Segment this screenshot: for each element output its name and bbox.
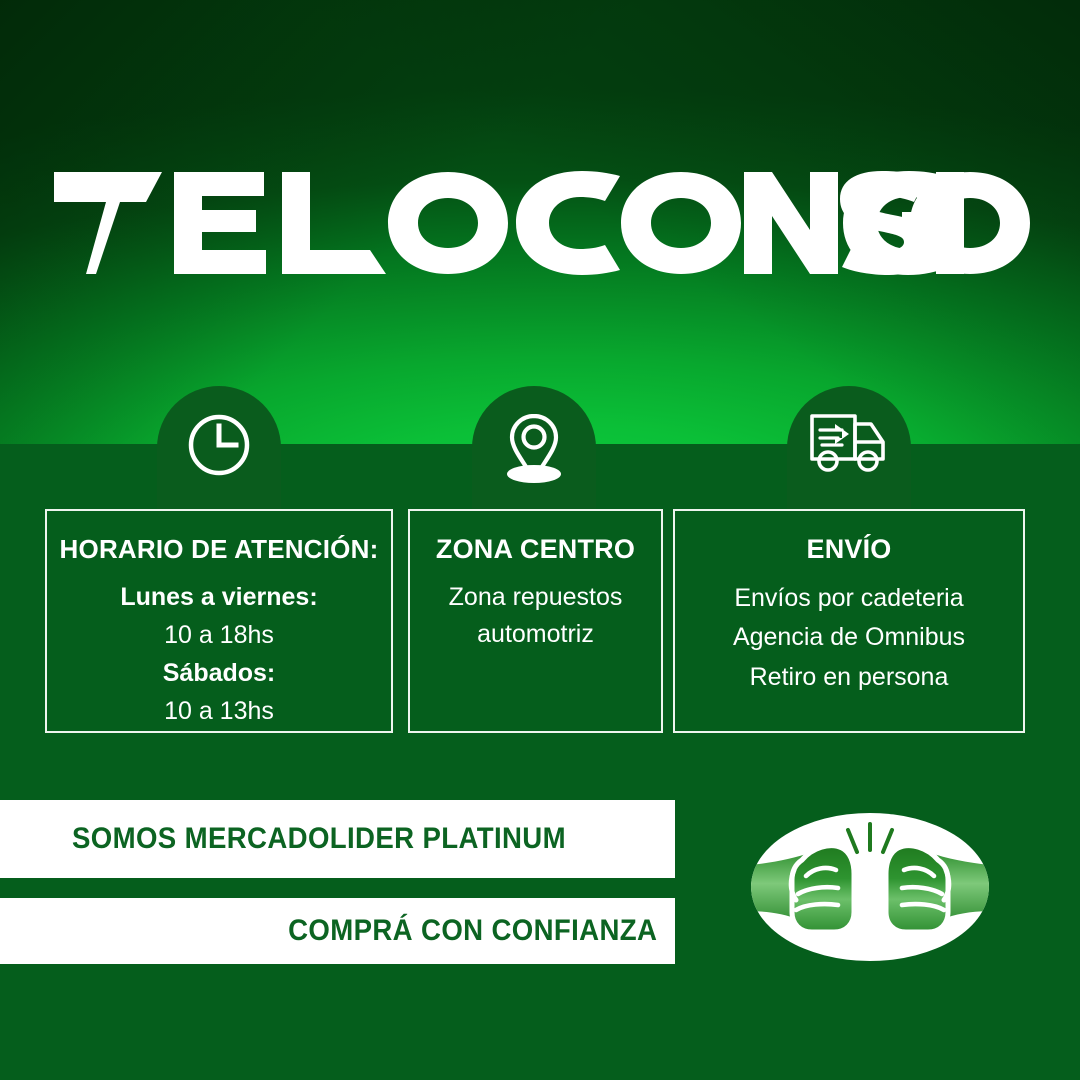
location-pin-icon bbox=[499, 386, 569, 484]
banner-buy-with-confidence: COMPRÁ CON CONFIANZA bbox=[0, 898, 675, 964]
card-shipping: ENVÍO Envíos por cadeteria Agencia de Om… bbox=[673, 509, 1025, 733]
card-line: Agencia de Omnibus bbox=[675, 618, 1023, 658]
card-title: ENVÍO bbox=[675, 535, 1023, 565]
card-title: HORARIO DE ATENCIÓN: bbox=[47, 535, 391, 564]
info-cards: HORARIO DE ATENCIÓN: Lunes a viernes: 10… bbox=[45, 509, 1025, 733]
card-line: 10 a 18hs bbox=[47, 616, 391, 654]
card-line: 10 a 13hs bbox=[47, 692, 391, 730]
card-line: automotriz bbox=[410, 616, 661, 654]
banner-label: COMPRÁ CON CONFIANZA bbox=[288, 914, 657, 948]
card-body: Lunes a viernes: 10 a 18hs Sábados: 10 a… bbox=[47, 578, 391, 730]
delivery-truck-icon bbox=[809, 386, 889, 474]
card-line: Retiro en persona bbox=[675, 658, 1023, 698]
badge-hours bbox=[157, 386, 281, 510]
card-business-hours: HORARIO DE ATENCIÓN: Lunes a viernes: 10… bbox=[45, 509, 393, 733]
fist-bump-icon bbox=[750, 808, 990, 966]
card-line: Envíos por cadeteria bbox=[675, 579, 1023, 619]
promo-banner-canvas: HORARIO DE ATENCIÓN: Lunes a viernes: 10… bbox=[0, 0, 1080, 1080]
banner-label: SOMOS MERCADOLIDER PLATINUM bbox=[72, 822, 566, 856]
card-line: Sábados: bbox=[47, 654, 391, 692]
banner-mercadolider: SOMOS MERCADOLIDER PLATINUM bbox=[0, 800, 675, 878]
trust-seal bbox=[750, 808, 990, 966]
clock-icon bbox=[186, 386, 252, 478]
brand-wordmark bbox=[0, 168, 1080, 278]
badge-zone bbox=[472, 386, 596, 510]
card-body: Envíos por cadeteria Agencia de Omnibus … bbox=[675, 579, 1023, 698]
card-line: Lunes a viernes: bbox=[47, 578, 391, 616]
card-title: ZONA CENTRO bbox=[410, 535, 661, 565]
card-line: Zona repuestos bbox=[410, 579, 661, 617]
badge-shipping bbox=[787, 386, 911, 510]
card-body: Zona repuestos automotriz bbox=[410, 579, 661, 654]
card-zone: ZONA CENTRO Zona repuestos automotriz bbox=[408, 509, 663, 733]
